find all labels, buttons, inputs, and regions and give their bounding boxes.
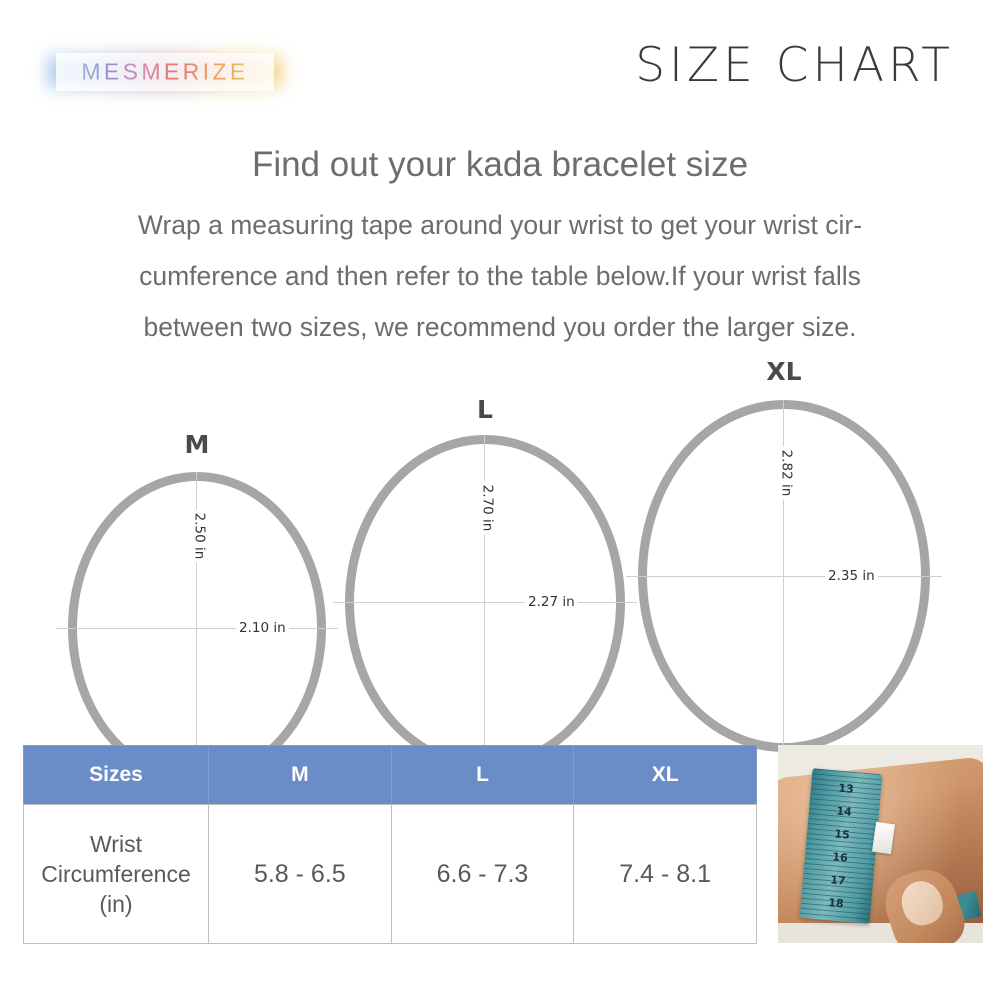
oval-width-label-l: 2.27 in: [525, 594, 578, 610]
intro-line-2: cumference and then refer to the table b…: [50, 251, 950, 302]
table-row: Wrist Circumference (in) 5.8 - 6.5 6.6 -…: [24, 805, 757, 944]
row-label-wrist-circumference: Wrist Circumference (in): [24, 805, 209, 944]
intro-paragraph: Wrap a measuring tape around your wrist …: [50, 200, 950, 353]
oval-axis-horizontal-xl: [626, 576, 942, 577]
oval-height-label-m: 2.50 in: [191, 510, 207, 563]
oval-group-xl: XL 2.82 in 2.35 in: [638, 362, 930, 732]
photo-measuring-tape: 13 14 15 16 17 18: [800, 768, 883, 924]
wrist-measurement-photo: 13 14 15 16 17 18: [778, 745, 983, 943]
page-title: SIZE CHART: [635, 42, 954, 89]
oval-width-label-m: 2.10 in: [236, 620, 289, 636]
cell-wrist-m: 5.8 - 6.5: [209, 805, 392, 944]
oval-height-label-l: 2.70 in: [479, 482, 495, 535]
brand-logo: MESMERIZE: [46, 44, 284, 100]
table-header-xl: XL: [574, 746, 757, 805]
table-header-m: M: [209, 746, 392, 805]
table-header-sizes: Sizes: [24, 746, 209, 805]
oval-width-label-xl: 2.35 in: [825, 568, 878, 584]
logo-text: MESMERIZE: [46, 59, 284, 86]
intro-line-1: Wrap a measuring tape around your wrist …: [50, 200, 950, 251]
cell-wrist-xl: 7.4 - 8.1: [574, 805, 757, 944]
oval-axis-horizontal-l: [333, 602, 637, 603]
oval-label-m: M: [167, 430, 227, 459]
oval-axis-horizontal-m: [56, 628, 338, 629]
size-table: Sizes M L XL Wrist Circumference (in) 5.…: [23, 745, 757, 944]
oval-group-m: M 2.50 in 2.10 in: [68, 400, 326, 724]
oval-label-xl: XL: [754, 357, 814, 386]
table-header-row: Sizes M L XL: [24, 746, 757, 805]
oval-diagrams: M 2.50 in 2.10 in L 2.70 in 2.27 in XL 2…: [0, 340, 1000, 740]
oval-label-l: L: [455, 395, 515, 424]
cell-wrist-l: 6.6 - 7.3: [391, 805, 574, 944]
oval-group-l: L 2.70 in 2.27 in: [345, 382, 625, 730]
headline: Find out your kada bracelet size: [0, 145, 1000, 185]
oval-height-label-xl: 2.82 in: [778, 447, 794, 500]
table-header-l: L: [391, 746, 574, 805]
